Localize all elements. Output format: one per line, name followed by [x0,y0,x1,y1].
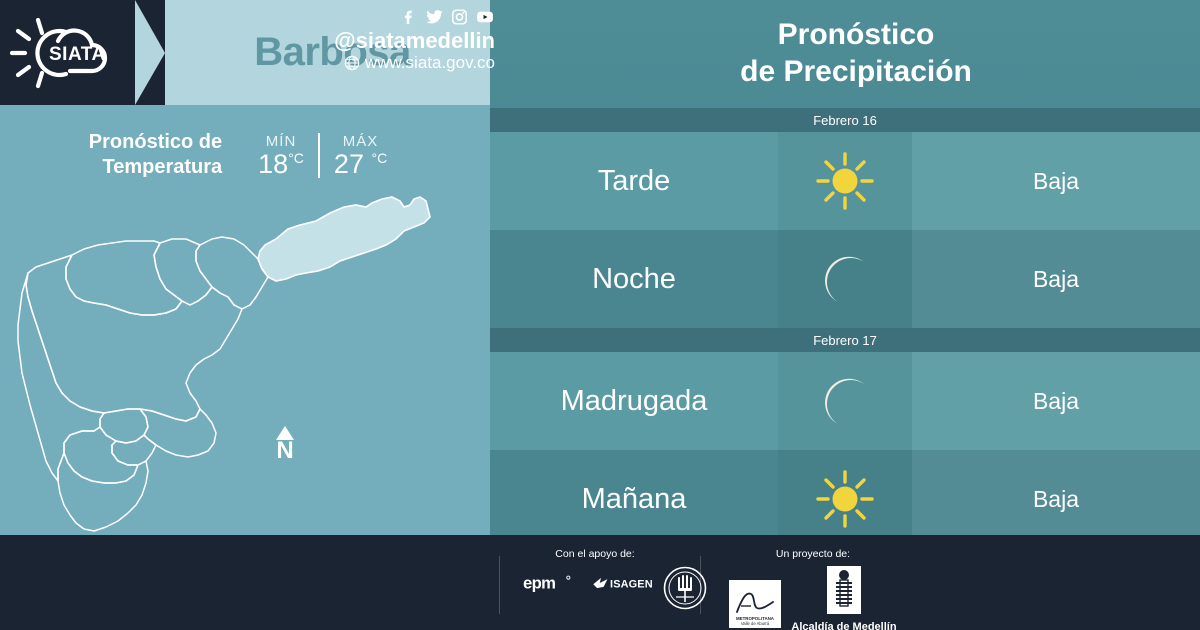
temperature-block: Pronóstico de Temperatura MÍN 18°C MÁX 2… [0,120,490,190]
forecast-header: Pronóstico de Precipitación [490,0,1200,108]
forecast-period: Noche [490,230,778,328]
instagram-icon[interactable] [451,8,468,26]
temperature-min: MÍN 18°C [244,133,318,178]
support-label: Con el apoyo de: [520,548,670,560]
forecast-period: Mañana [490,450,778,548]
support-logos: epm ISAGEN [520,571,670,595]
area-metropolitana-logo: METROPOLITANA Valle de Aburrá [729,580,781,630]
forecast-period: Madrugada [490,352,778,450]
precipitation-level: Baja [912,230,1200,328]
temperature-max: MÁX 27 °C [318,133,401,178]
forecast-period: Tarde [490,132,778,230]
map-region-medellin [26,255,242,421]
youtube-icon[interactable] [475,8,495,26]
date-band: Febrero 17 [490,328,1200,352]
website-line[interactable]: www.siata.gov.co [300,53,495,73]
project-block: Un proyecto de: METROPOLITANA Valle de A… [718,548,908,630]
alcaldia-caption: Alcaldía de Medellín [791,621,896,630]
precipitation-level: Baja [912,352,1200,450]
date-band: Febrero 16 [490,108,1200,132]
map-svg [0,183,490,535]
left-body: Pronóstico de Temperatura MÍN 18°C MÁX 2… [0,105,490,535]
social-handle[interactable]: @siatamedellin [300,28,495,53]
map-region-envigado [140,409,216,457]
project-logos: METROPOLITANA Valle de Aburrá [718,566,908,630]
precipitation-level: Baja [912,450,1200,548]
temperature-min-label: MÍN [258,133,304,150]
map-region-outer-west [18,273,104,481]
forecast-row[interactable]: Madrugada Baja [490,352,1200,450]
map-region-barbosa[interactable] [258,197,430,281]
siata-logo-text: SIATA [49,44,106,65]
precipitation-level: Baja [912,132,1200,230]
north-arrow-icon: N [276,426,294,463]
twitter-icon[interactable] [425,8,444,26]
sun-icon [778,132,912,230]
svg-text:ISAGEN: ISAGEN [610,579,653,591]
map-region-copacabana [154,239,212,305]
temperature-max-label: MÁX [334,133,387,150]
universidad-seal-logo [663,566,707,610]
forecast-row[interactable]: Noche Baja [490,230,1200,328]
logo-arrow-shape [135,0,165,105]
siata-logo-block: SIATA [0,0,135,105]
temperature-max-value: 27 °C [334,151,387,178]
moon-icon [778,230,912,328]
forecast-row[interactable]: Tarde [490,132,1200,230]
temperature-min-unit: °C [288,150,304,166]
social-block: @siatamedellin www.siata.gov.co [300,8,495,73]
aburra-valley-map: N [0,183,490,535]
forecast-title: Pronóstico de Precipitación [718,17,972,91]
temperature-min-value: 18°C [258,151,304,178]
map-region-la-estrella [64,427,138,483]
epm-logo: epm [523,571,583,595]
svg-text:epm: epm [523,573,555,592]
alcaldia-medellin-logo: Alcaldía de Medellín [791,566,896,630]
globe-icon [344,55,360,71]
support-block: Con el apoyo de: epm ISAGEN [520,548,670,595]
project-label: Un proyecto de: [718,548,908,560]
facebook-icon[interactable] [401,8,418,26]
moon-icon [778,352,912,450]
footer-divider [499,556,500,614]
map-region-bello [66,241,182,315]
map-region-girardota [196,237,268,309]
forecast-rows: Febrero 16 Tarde [490,108,1200,548]
temperature-values: MÍN 18°C MÁX 27 °C [244,133,401,178]
svg-text:Valle de Aburrá: Valle de Aburrá [741,621,770,626]
temperature-title: Pronóstico de Temperatura [89,130,222,180]
forecast-row[interactable]: Mañana [490,450,1200,548]
north-label: N [276,439,294,463]
website-text: www.siata.gov.co [365,53,495,73]
forecast-panel: Pronóstico de Precipitación Febrero 16 T… [490,0,1200,535]
social-icons [300,8,495,26]
left-panel: SIATA Barbosa Pronóstico de Temperatura … [0,0,490,535]
infographic-canvas: SIATA Barbosa Pronóstico de Temperatura … [0,0,1200,630]
sun-icon [778,450,912,548]
isagen-logo: ISAGEN [592,573,668,593]
sun-cloud-icon: SIATA [8,12,128,94]
temperature-max-unit: °C [371,150,387,166]
